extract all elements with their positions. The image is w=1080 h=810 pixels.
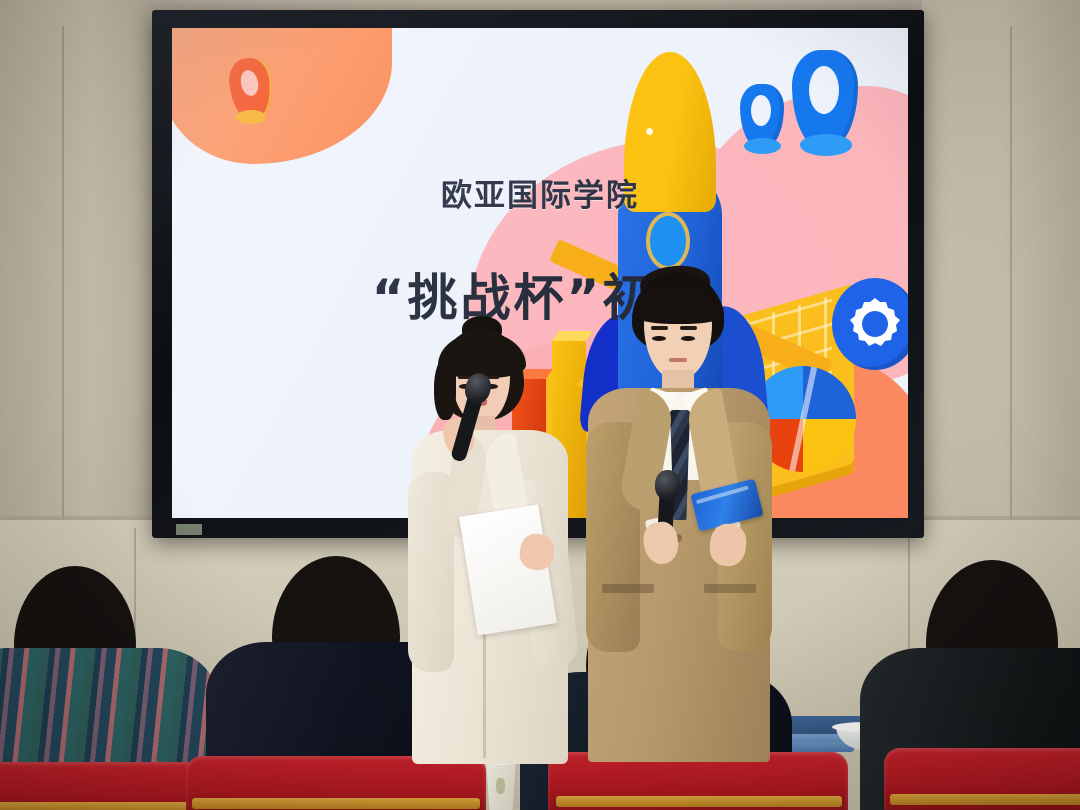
location-pin-blue-large-icon [792, 50, 858, 148]
auditorium-scene: 欧亚国际学院 “挑战杯”初赛 [0, 0, 1080, 810]
blob-orange-top-left [172, 28, 392, 164]
slide-title: “挑战杯”初赛 [172, 258, 908, 330]
seat-trim [0, 802, 216, 810]
seat-trim [556, 796, 842, 807]
wall-right-panel [922, 0, 1080, 520]
pocket-left [602, 584, 654, 593]
wall-seam [62, 26, 64, 520]
screen-brand-tag [176, 524, 202, 535]
seat-trim [192, 798, 480, 809]
paper-cup[interactable] [484, 760, 518, 810]
mouth [669, 358, 687, 362]
wall-seam [1010, 26, 1012, 520]
female-host [404, 322, 574, 762]
slide-subtitle: 欧亚国际学院 [172, 170, 908, 215]
location-pin-red-icon [230, 58, 272, 120]
pocket-right [704, 584, 756, 593]
male-host [588, 272, 770, 762]
seat-trim [890, 794, 1080, 805]
wall-left-panel [0, 0, 152, 520]
hair-side [434, 358, 456, 420]
